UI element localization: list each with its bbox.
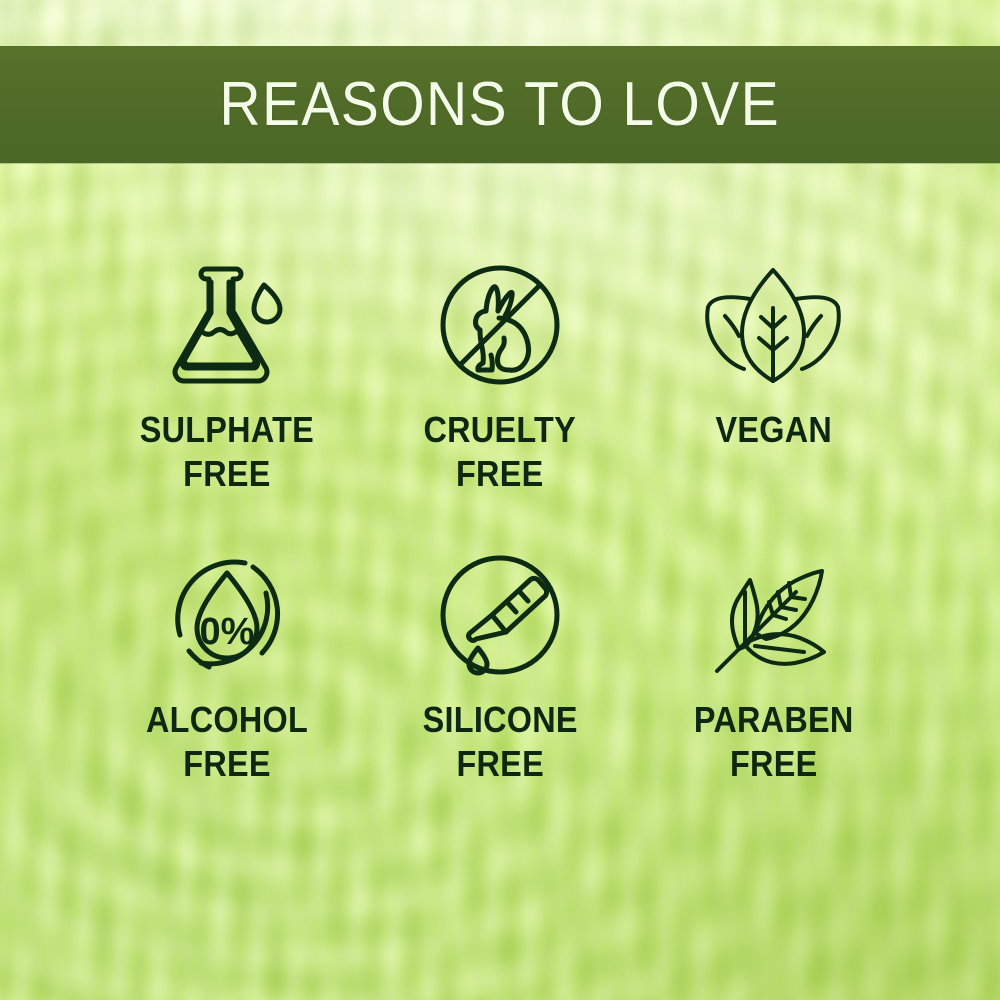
badge-label: SULPHATE FREE (139, 408, 313, 496)
badge-label: VEGAN (715, 408, 832, 452)
badge-label: PARABEN FREE (693, 698, 853, 786)
no-rabbit-icon (433, 250, 567, 400)
badge-label-line1: CRUELTY (424, 409, 576, 450)
badge-cruelty-free: CRUELTY FREE (363, 250, 636, 540)
poster-canvas: REASONS TO LOVE (0, 0, 1000, 1000)
badge-label-line2: FREE (424, 452, 576, 496)
zero-percent-droplet-icon: 0% (161, 540, 293, 690)
header-banner: REASONS TO LOVE (0, 46, 1000, 163)
badge-label: ALCOHOL FREE (146, 698, 308, 786)
badge-silicone-free: SILICONE FREE (363, 540, 636, 830)
flask-droplet-icon (162, 250, 292, 400)
badge-label: CRUELTY FREE (424, 408, 576, 496)
badge-sulphate-free: SULPHATE FREE (90, 250, 363, 540)
three-leaves-icon (703, 250, 843, 400)
droplet-zero-percent-text: 0% (199, 611, 254, 653)
badge-paraben-free: PARABEN FREE (637, 540, 910, 830)
badge-label-line2: FREE (422, 742, 577, 786)
badge-label: SILICONE FREE (422, 698, 577, 786)
benefits-grid: SULPHATE FREE (90, 250, 910, 830)
badge-label-line1: ALCOHOL (146, 699, 308, 740)
badge-label-line2: FREE (139, 452, 313, 496)
pipette-drop-icon (434, 540, 566, 690)
page-title: REASONS TO LOVE (220, 69, 781, 140)
badge-label-line1: VEGAN (715, 409, 832, 450)
badge-label-line1: PARABEN (693, 699, 853, 740)
badge-alcohol-free: 0% ALCOHOL FREE (90, 540, 363, 830)
badge-label-line1: SILICONE (422, 699, 577, 740)
badge-label-line2: FREE (146, 742, 308, 786)
badge-vegan: VEGAN (637, 250, 910, 540)
leaf-sprig-icon (703, 540, 843, 690)
badge-label-line1: SULPHATE (139, 409, 313, 450)
badge-label-line2: FREE (693, 742, 853, 786)
